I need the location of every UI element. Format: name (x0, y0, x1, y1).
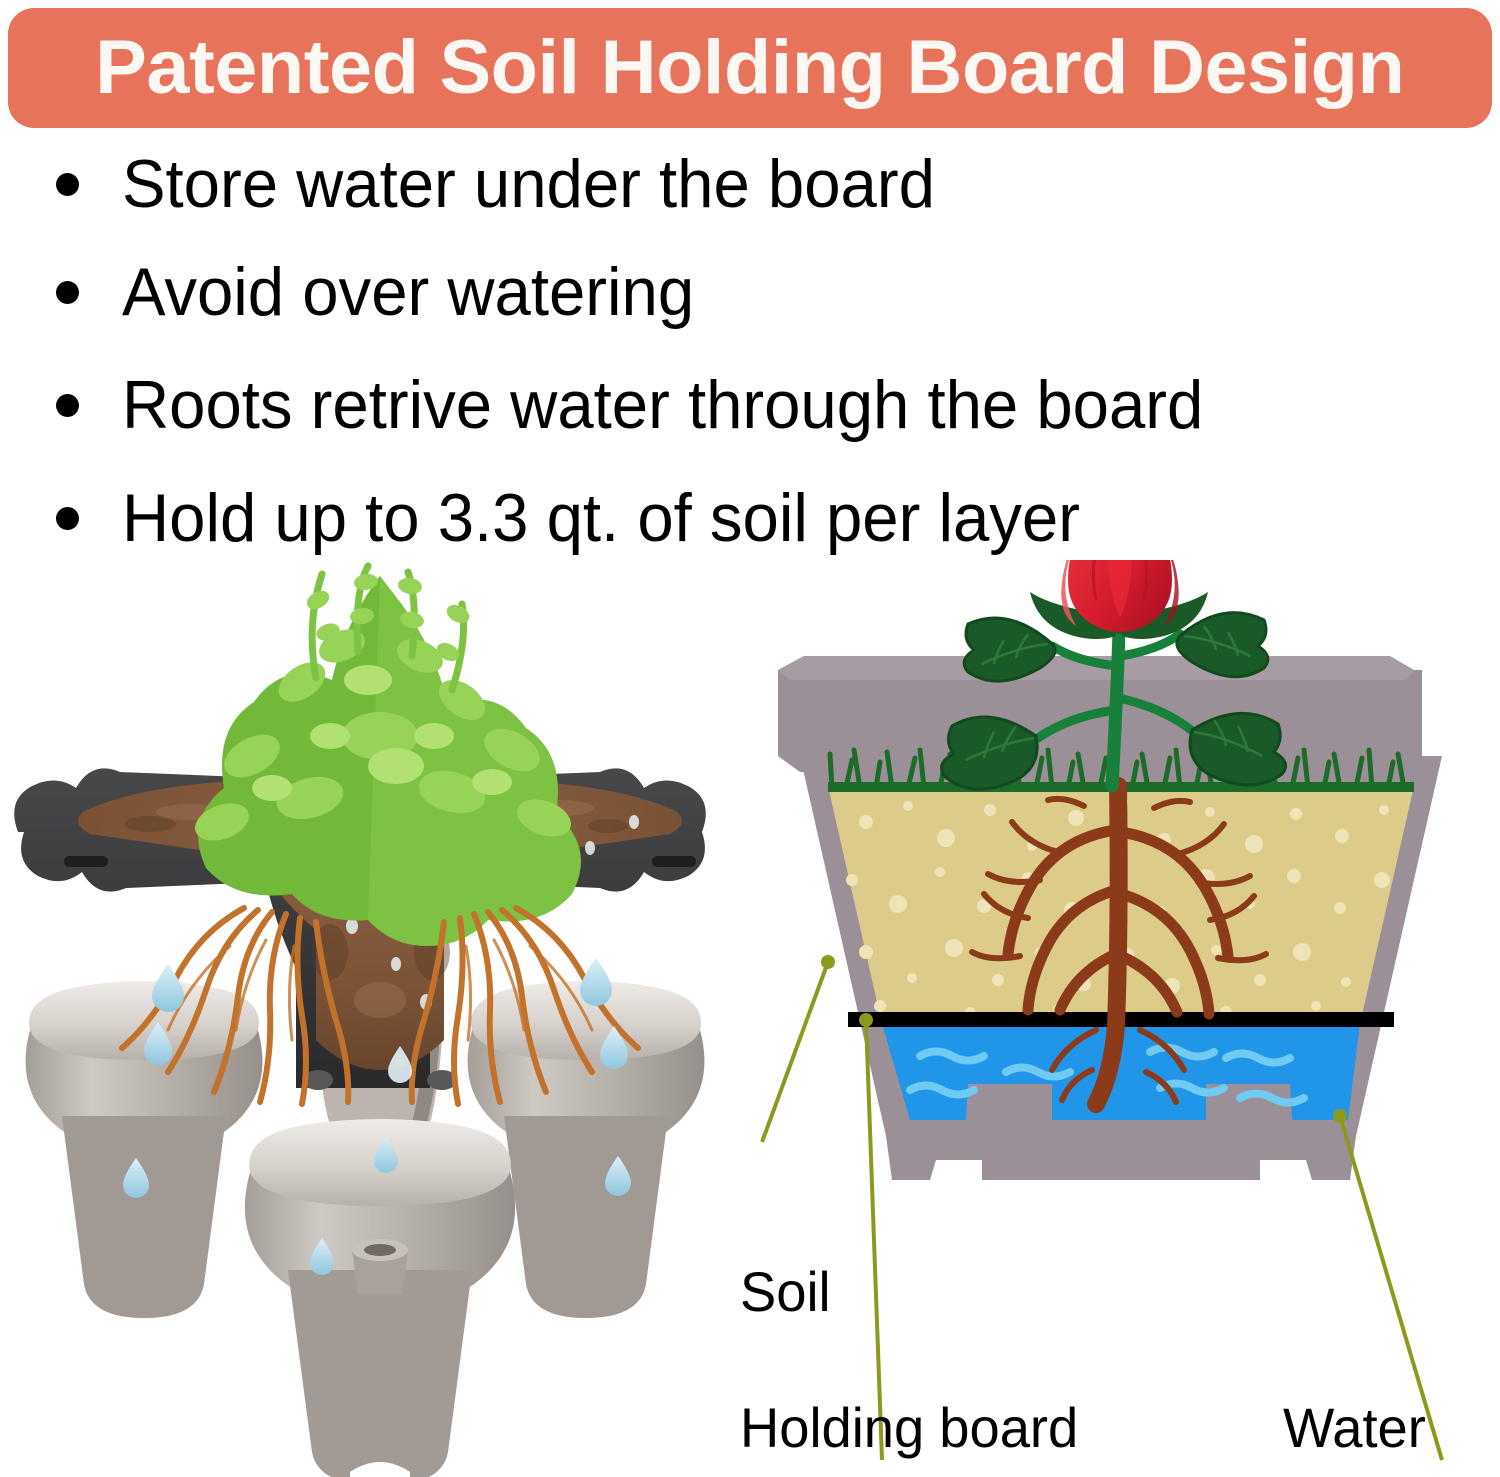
page-title: Patented Soil Holding Board Design (95, 30, 1404, 106)
bullet-dot-icon (56, 394, 79, 417)
label-water: Water (1283, 1400, 1426, 1456)
drain-nozzle (352, 1239, 408, 1294)
list-item-label: Store water under the board (122, 150, 935, 218)
list-item: Avoid over watering (56, 258, 718, 326)
cross-section-diagram (740, 560, 1500, 1477)
list-item-label: Roots retrive water through the board (122, 371, 1203, 439)
product-photo-illustration (0, 560, 760, 1477)
list-item: Store water under the board (56, 150, 969, 218)
list-item-label: Avoid over watering (122, 258, 694, 326)
plant-foliage (190, 566, 581, 946)
list-item: Hold up to 3.3 qt. of soil per layer (56, 484, 1120, 552)
right-illustration-svg (740, 560, 1500, 1477)
header-banner: Patented Soil Holding Board Design (8, 8, 1492, 128)
rose-plant (942, 560, 1286, 789)
planter-lobe-front (245, 1119, 515, 1477)
list-item-label: Hold up to 3.3 qt. of soil per layer (122, 484, 1080, 552)
planter-lobe-left (26, 981, 263, 1318)
label-holding-board: Holding board (740, 1400, 1078, 1456)
bullet-dot-icon (56, 281, 79, 304)
list-item: Roots retrive water through the board (56, 371, 1248, 439)
label-soil: Soil (740, 1264, 831, 1320)
illustration-area (0, 560, 1500, 1477)
bullet-dot-icon (56, 173, 79, 196)
bullet-dot-icon (56, 507, 79, 530)
left-illustration-svg (0, 560, 760, 1477)
